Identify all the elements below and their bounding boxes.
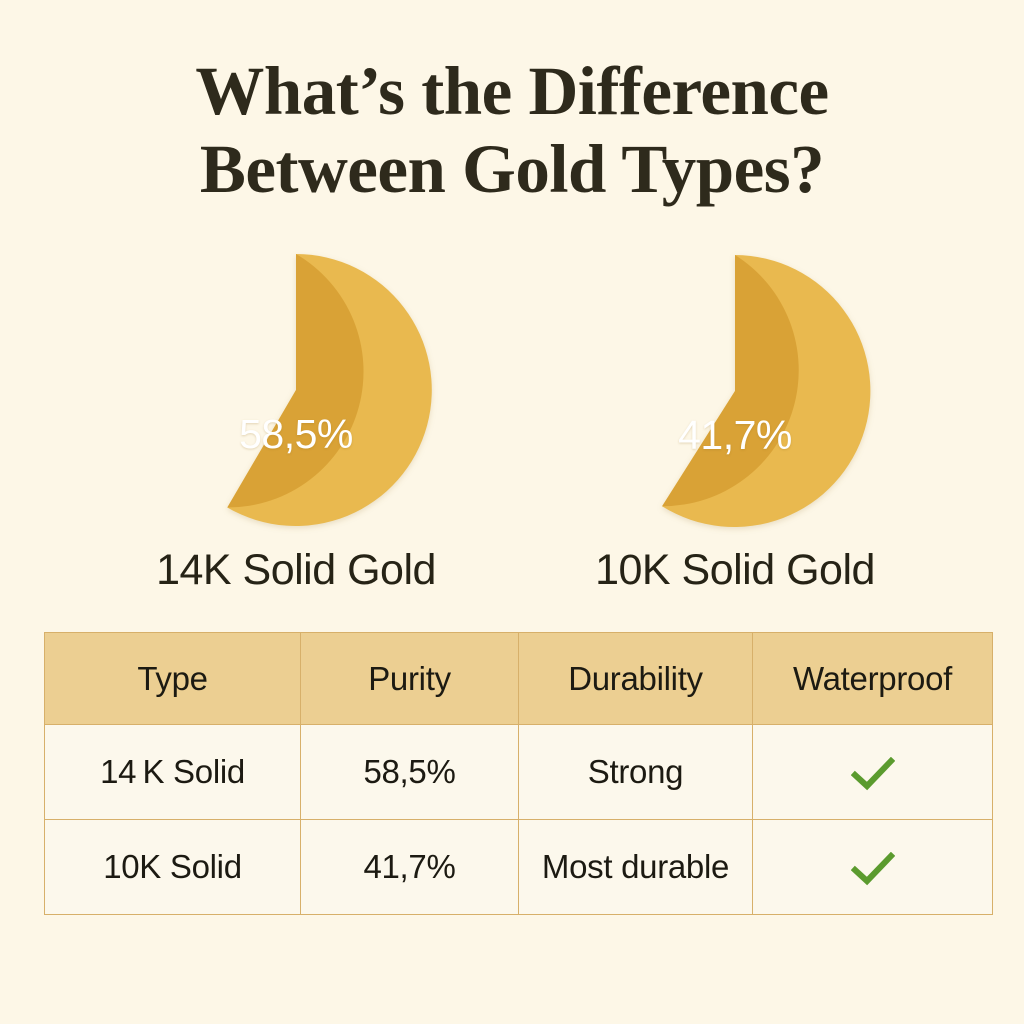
cell-type-14k: 14 K Solid [45, 725, 301, 820]
cell-durability-14k: Strong [519, 725, 753, 820]
pie-captions-row: 14K Solid Gold 10K Solid Gold [0, 546, 1024, 602]
table-header: Type Purity Durability Waterproof [45, 633, 993, 725]
pie-10k-svg [599, 255, 871, 527]
cell-purity-14k: 58,5% [301, 725, 519, 820]
cell-durability-10k: Most durable [519, 820, 753, 915]
pie-caption-10k: 10K Solid Gold [535, 546, 935, 595]
page-title: What’s the Difference Between Gold Types… [0, 52, 1024, 208]
column-header-durability: Durability [519, 633, 753, 725]
title-line-2: Between Gold Types? [0, 130, 1024, 208]
table-header-row: Type Purity Durability Waterproof [45, 633, 993, 725]
table-body: 14 K Solid 58,5% Strong 10K Solid 41,7% … [45, 725, 993, 915]
column-header-waterproof: Waterproof [753, 633, 993, 725]
pie-caption-14k: 14K Solid Gold [96, 546, 496, 595]
gold-comparison-table: Type Purity Durability Waterproof 14 K S… [44, 632, 993, 915]
table-row: 10K Solid 41,7% Most durable [45, 820, 993, 915]
cell-type-10k: 10K Solid [45, 820, 301, 915]
column-header-type: Type [45, 633, 301, 725]
gold-types-infographic: What’s the Difference Between Gold Types… [0, 0, 1024, 1024]
cell-waterproof-10k [753, 820, 993, 915]
title-line-1: What’s the Difference [0, 52, 1024, 130]
pie-14k-svg [160, 254, 432, 526]
check-icon [851, 757, 895, 791]
cell-purity-10k: 41,7% [301, 820, 519, 915]
pie-chart-14k: 58,5% [160, 254, 432, 526]
table-row: 14 K Solid 58,5% Strong [45, 725, 993, 820]
cell-waterproof-14k [753, 725, 993, 820]
pie-chart-10k: 41,7% [599, 255, 871, 527]
column-header-purity: Purity [301, 633, 519, 725]
pie-charts-row: 58,5% 41,7% [0, 254, 1024, 528]
check-icon [851, 852, 895, 886]
